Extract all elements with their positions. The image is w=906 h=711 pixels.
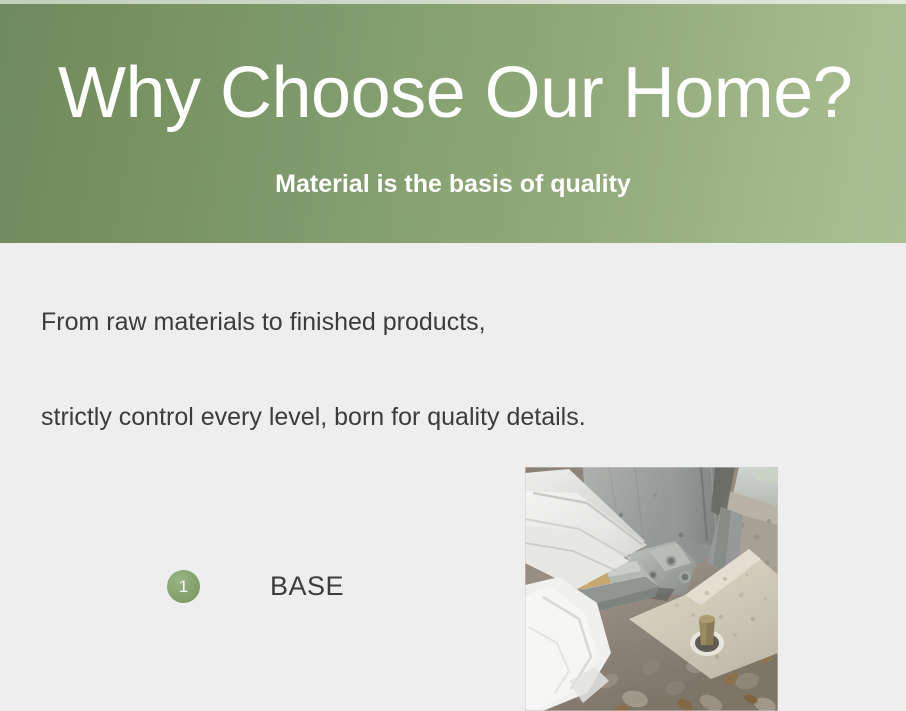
body-text-line-1: From raw materials to finished products,	[41, 310, 486, 335]
header-banner: Why Choose Our Home? Material is the bas…	[0, 4, 906, 243]
product-photo-image	[525, 467, 778, 711]
slide-canvas: Why Choose Our Home? Material is the bas…	[0, 0, 906, 711]
list-item: 1 BASE	[167, 570, 344, 603]
list-item-label: BASE	[270, 573, 344, 600]
page-subtitle: Material is the basis of quality	[0, 172, 906, 197]
product-photo	[525, 467, 778, 711]
step-number-badge: 1	[167, 570, 200, 603]
page-title: Why Choose Our Home?	[58, 57, 852, 129]
body-text-line-2: strictly control every level, born for q…	[41, 405, 586, 430]
